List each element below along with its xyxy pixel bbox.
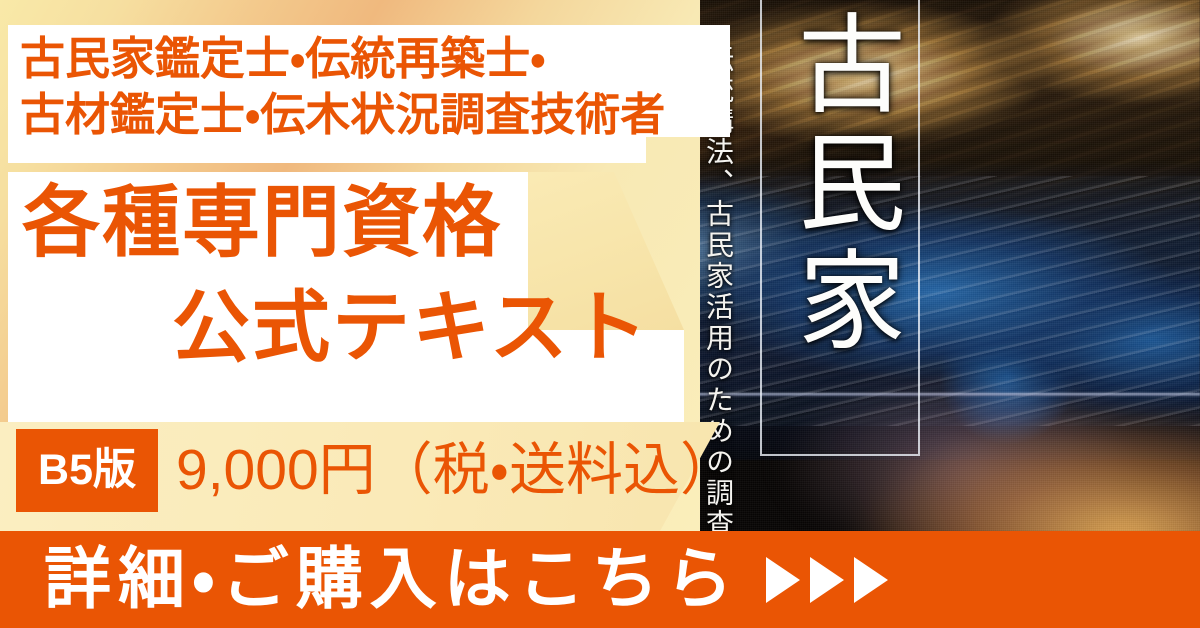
book-cover-title: 古民家 [786,8,904,362]
triangle-right-icon [766,557,800,603]
cta-bar[interactable]: 詳細・ご購入はこちら [0,531,1200,628]
cta-label: 詳細・ご購入はこちら [44,546,740,613]
triangle-right-icon [854,557,888,603]
title-line-1: 各種専門資格 [22,183,502,261]
format-badge-label: B5版 [38,449,136,492]
triangle-right-icon [810,557,844,603]
cta-arrow-group [766,557,888,603]
price-text: 9,000円（税・送料込） [176,434,737,507]
promotional-banner: 伝統構法、古民家活用のための調査と再生の 古民家 古民家鑑定士・伝統再築士・ 古… [0,0,1200,628]
title-line-2: 公式テキスト [172,288,650,366]
headline-text: 古民家鑑定士・伝統再築士・ 古材鑑定士・伝木状況調査技術者 [20,31,730,143]
format-badge: B5版 [16,429,158,512]
